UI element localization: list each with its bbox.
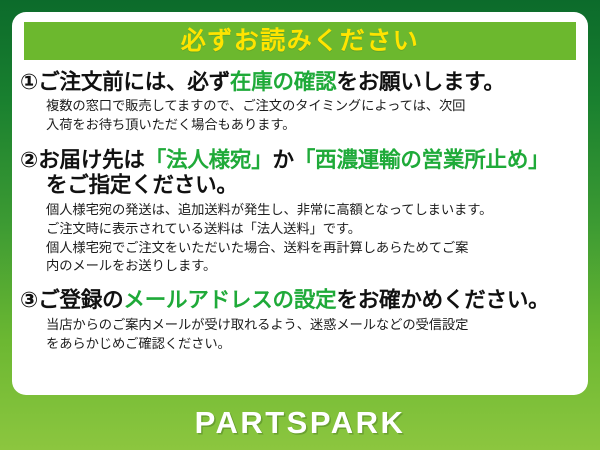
notice-item-3-subline-0: 当店からのご案内メールが受け取れるよう、迷惑メールなどの受信設定 <box>46 316 578 335</box>
notice-item-2-subline-1: ご注文時に表示されている送料は「法人送料」です。 <box>46 220 578 239</box>
notice-item-3-number: ③ <box>20 288 38 312</box>
notice-item-2-subtext: 個人様宅宛の発送は、追加送料が発生し、非常に高額となってしまいます。 ご注文時に… <box>46 201 578 277</box>
notice-item-2-number: ② <box>20 148 38 172</box>
notice-card: 必ずお読みください ①ご注文前には、必ず在庫の確認をお願いします。 複数の窓口で… <box>12 12 588 395</box>
notice-item-1-head-part-1: 在庫の確認 <box>230 70 337 94</box>
notice-item-2-heading-line2: をご指定ください。 <box>20 173 578 198</box>
notice-item-2-head-second-line: をご指定ください。 <box>46 173 238 198</box>
notice-poster: 必ずお読みください ①ご注文前には、必ず在庫の確認をお願いします。 複数の窓口で… <box>0 0 600 450</box>
notice-item-2: ②お届け先は「法人様宛」か「西濃運輸の営業所止め」 をご指定ください。 個人様宅… <box>12 148 588 276</box>
page-title: 必ずお読みください <box>181 29 420 54</box>
notice-item-list: ①ご注文前には、必ず在庫の確認をお願いします。 複数の窓口で販売してますので、ご… <box>12 68 588 353</box>
notice-item-1-head-part-2: をお願いします。 <box>336 70 504 94</box>
notice-item-2-head-part-2: か <box>273 148 294 172</box>
notice-item-2-subline-0: 個人様宅宛の発送は、追加送料が発生し、非常に高額となってしまいます。 <box>46 201 578 220</box>
notice-item-3-subtext: 当店からのご案内メールが受け取れるよう、迷惑メールなどの受信設定 をあらかじめご… <box>46 316 578 354</box>
notice-item-1-subtext: 複数の窓口で販売してますので、ご注文のタイミングによっては、次回 入荷をお待ち頂… <box>46 97 578 135</box>
brand-logo-text: PARTSPARK <box>195 407 406 438</box>
notice-item-3-head-part-1: メールアドレスの設定 <box>123 288 336 312</box>
notice-item-2-subline-2: 個人様宅宛でご注文をいただいた場合、送料を再計算しあらためてご案 <box>46 239 578 258</box>
notice-item-3-head-part-0: ご登録の <box>38 288 123 312</box>
notice-item-1-head-part-0: ご注文前には、必ず <box>38 70 230 94</box>
notice-item-3-head-part-2: をお確かめください。 <box>336 288 549 312</box>
notice-item-1: ①ご注文前には、必ず在庫の確認をお願いします。 複数の窓口で販売してますので、ご… <box>12 70 588 135</box>
notice-item-3-subline-1: をあらかじめご確認ください。 <box>46 335 578 354</box>
notice-item-1-subline-1: 入荷をお待ち頂いただく場合もあります。 <box>46 116 578 135</box>
notice-item-2-head-part-3: 「西濃運輸の営業所止め」 <box>294 148 550 172</box>
notice-item-3: ③ご登録のメールアドレスの設定をお確かめください。 当店からのご案内メールが受け… <box>12 288 588 353</box>
notice-item-1-number: ① <box>20 70 38 94</box>
footer-bar: PARTSPARK <box>0 395 600 450</box>
notice-item-2-head-part-1: 「法人様宛」 <box>145 148 273 172</box>
notice-item-2-subline-3: 内のメールをお送りします。 <box>46 257 578 276</box>
notice-item-1-subline-0: 複数の窓口で販売してますので、ご注文のタイミングによっては、次回 <box>46 97 578 116</box>
notice-item-1-heading: ①ご注文前には、必ず在庫の確認をお願いします。 <box>20 70 578 95</box>
notice-item-2-heading: ②お届け先は「法人様宛」か「西濃運輸の営業所止め」 <box>20 148 578 173</box>
notice-item-2-head-part-0: お届け先は <box>38 148 145 172</box>
notice-item-3-heading: ③ご登録のメールアドレスの設定をお確かめください。 <box>20 288 578 313</box>
header-banner: 必ずお読みください <box>24 22 576 60</box>
